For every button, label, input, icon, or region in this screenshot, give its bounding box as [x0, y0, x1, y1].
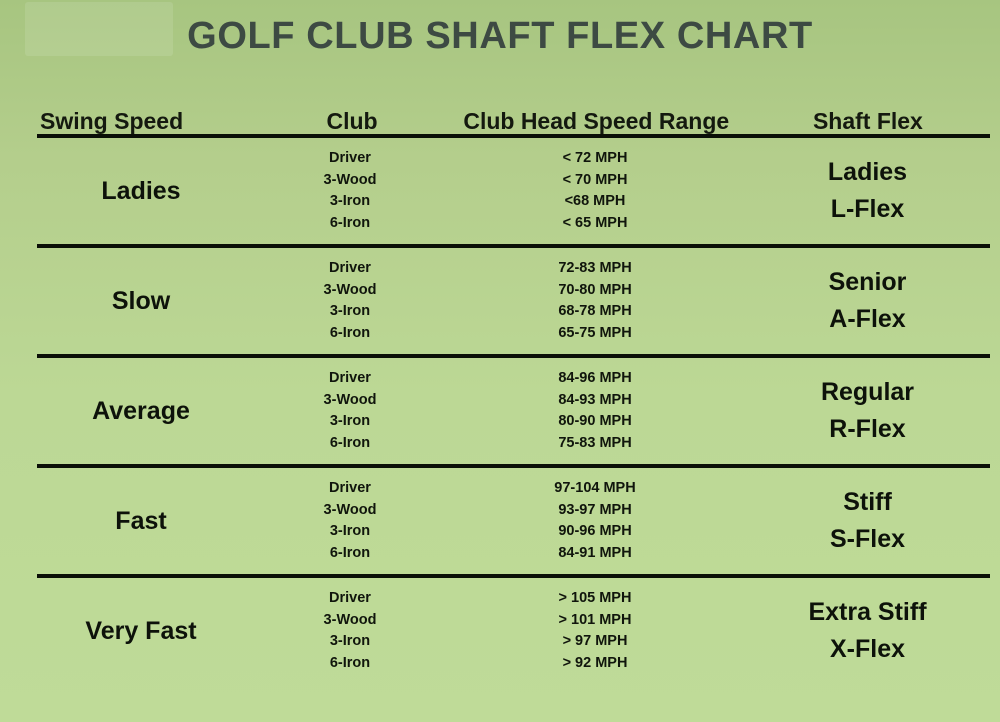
- speed-range-value: 75-83 MPH: [445, 433, 745, 455]
- shaft-flex-code: S-Flex: [745, 521, 990, 558]
- table-row: Very FastDriver3-Wood3-Iron6-Iron> 105 M…: [37, 578, 990, 684]
- shaft-flex-name: Extra Stiff: [745, 594, 990, 631]
- speed-range-value: < 72 MPH: [445, 148, 745, 170]
- cell-speed-range-list: < 72 MPH< 70 MPH<68 MPH< 65 MPH: [445, 148, 745, 234]
- speed-range-value: 84-96 MPH: [445, 368, 745, 390]
- table-row: LadiesDriver3-Wood3-Iron6-Iron< 72 MPH< …: [37, 138, 990, 244]
- speed-range-value: < 70 MPH: [445, 170, 745, 192]
- cell-speed-range-list: 97-104 MPH93-97 MPH90-96 MPH84-91 MPH: [445, 478, 745, 564]
- cell-swing-speed: Very Fast: [37, 617, 255, 646]
- speed-range-value: 65-75 MPH: [445, 323, 745, 345]
- club-name: 6-Iron: [255, 433, 445, 455]
- club-name: Driver: [255, 148, 445, 170]
- club-name: Driver: [255, 478, 445, 500]
- cell-shaft-flex: LadiesL-Flex: [745, 154, 990, 228]
- club-name: 6-Iron: [255, 653, 445, 675]
- club-name: 3-Wood: [255, 390, 445, 412]
- cell-swing-speed: Slow: [37, 287, 255, 316]
- speed-range-value: 97-104 MPH: [445, 478, 745, 500]
- speed-range-value: 80-90 MPH: [445, 411, 745, 433]
- table-row: SlowDriver3-Wood3-Iron6-Iron72-83 MPH70-…: [37, 248, 990, 354]
- club-name: 3-Iron: [255, 411, 445, 433]
- club-name: Driver: [255, 368, 445, 390]
- club-name: 3-Wood: [255, 500, 445, 522]
- shaft-flex-name: Regular: [745, 374, 990, 411]
- shaft-flex-code: X-Flex: [745, 631, 990, 668]
- speed-range-value: <68 MPH: [445, 191, 745, 213]
- club-name: 3-Wood: [255, 610, 445, 632]
- cell-shaft-flex: Extra StiffX-Flex: [745, 594, 990, 668]
- club-name: 6-Iron: [255, 323, 445, 345]
- cell-speed-range-list: 72-83 MPH70-80 MPH68-78 MPH65-75 MPH: [445, 258, 745, 344]
- cell-shaft-flex: RegularR-Flex: [745, 374, 990, 448]
- shaft-flex-name: Ladies: [745, 154, 990, 191]
- speed-range-value: 68-78 MPH: [445, 301, 745, 323]
- cell-swing-speed: Fast: [37, 507, 255, 536]
- speed-range-value: > 92 MPH: [445, 653, 745, 675]
- speed-range-value: 90-96 MPH: [445, 521, 745, 543]
- table-body: LadiesDriver3-Wood3-Iron6-Iron< 72 MPH< …: [37, 138, 990, 684]
- speed-range-value: > 97 MPH: [445, 631, 745, 653]
- cell-club-list: Driver3-Wood3-Iron6-Iron: [255, 148, 445, 234]
- cell-club-list: Driver3-Wood3-Iron6-Iron: [255, 368, 445, 454]
- table-row: AverageDriver3-Wood3-Iron6-Iron84-96 MPH…: [37, 358, 990, 464]
- shaft-flex-name: Stiff: [745, 484, 990, 521]
- speed-range-value: < 65 MPH: [445, 213, 745, 235]
- cell-swing-speed: Average: [37, 397, 255, 426]
- shaft-flex-code: A-Flex: [745, 301, 990, 338]
- club-name: 3-Wood: [255, 170, 445, 192]
- column-header-swing-speed: Swing Speed: [37, 108, 257, 134]
- speed-range-value: 70-80 MPH: [445, 280, 745, 302]
- club-name: 3-Iron: [255, 631, 445, 653]
- speed-range-value: 72-83 MPH: [445, 258, 745, 280]
- shaft-flex-table: Swing Speed Club Club Head Speed Range S…: [37, 82, 990, 684]
- cell-club-list: Driver3-Wood3-Iron6-Iron: [255, 588, 445, 674]
- column-header-club-head-speed-range: Club Head Speed Range: [447, 108, 746, 134]
- page-title: GOLF CLUB SHAFT FLEX CHART: [0, 13, 1000, 59]
- table-row: FastDriver3-Wood3-Iron6-Iron97-104 MPH93…: [37, 468, 990, 574]
- speed-range-value: > 105 MPH: [445, 588, 745, 610]
- cell-shaft-flex: SeniorA-Flex: [745, 264, 990, 338]
- club-name: 3-Wood: [255, 280, 445, 302]
- speed-range-value: > 101 MPH: [445, 610, 745, 632]
- shaft-flex-code: R-Flex: [745, 411, 990, 448]
- cell-speed-range-list: > 105 MPH> 101 MPH> 97 MPH> 92 MPH: [445, 588, 745, 674]
- club-name: 6-Iron: [255, 213, 445, 235]
- speed-range-value: 84-93 MPH: [445, 390, 745, 412]
- table-header-row: Swing Speed Club Club Head Speed Range S…: [37, 82, 990, 134]
- speed-range-value: 84-91 MPH: [445, 543, 745, 565]
- club-name: 3-Iron: [255, 191, 445, 213]
- club-name: 3-Iron: [255, 301, 445, 323]
- club-name: Driver: [255, 588, 445, 610]
- club-name: 3-Iron: [255, 521, 445, 543]
- cell-speed-range-list: 84-96 MPH84-93 MPH80-90 MPH75-83 MPH: [445, 368, 745, 454]
- speed-range-value: 93-97 MPH: [445, 500, 745, 522]
- cell-shaft-flex: StiffS-Flex: [745, 484, 990, 558]
- column-header-shaft-flex: Shaft Flex: [746, 108, 990, 134]
- shaft-flex-name: Senior: [745, 264, 990, 301]
- cell-club-list: Driver3-Wood3-Iron6-Iron: [255, 478, 445, 564]
- club-name: 6-Iron: [255, 543, 445, 565]
- chart-canvas: GOLF CLUB SHAFT FLEX CHART Swing Speed C…: [0, 0, 1000, 722]
- cell-swing-speed: Ladies: [37, 177, 255, 206]
- column-header-club: Club: [257, 108, 446, 134]
- shaft-flex-code: L-Flex: [745, 191, 990, 228]
- club-name: Driver: [255, 258, 445, 280]
- cell-club-list: Driver3-Wood3-Iron6-Iron: [255, 258, 445, 344]
